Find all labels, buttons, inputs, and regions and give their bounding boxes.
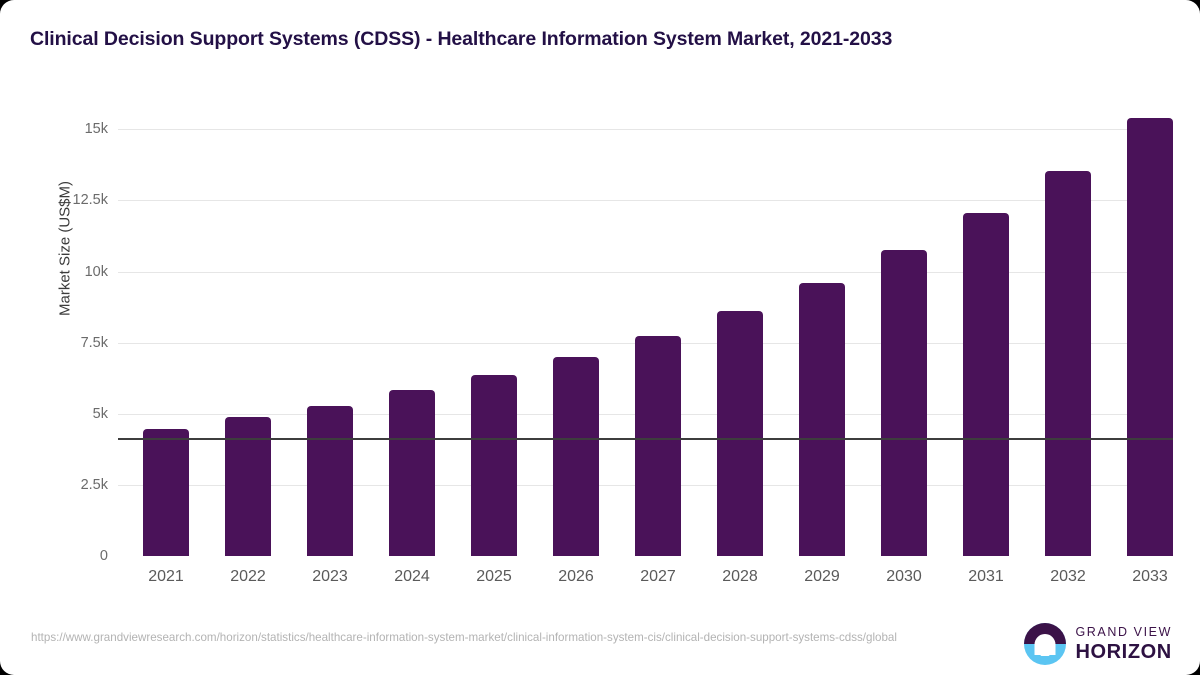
gridline [118, 129, 1173, 130]
bar-2026[interactable] [553, 357, 599, 556]
bar-2033[interactable] [1127, 118, 1173, 556]
x-tick-label: 2032 [1023, 568, 1113, 586]
horizon-sun-icon [1024, 623, 1066, 665]
y-tick-label: 7.5k [18, 335, 108, 351]
y-tick-label: 2.5k [18, 477, 108, 493]
x-axis-ticks: 2021202220232024202520262027202820292030… [118, 562, 1173, 592]
source-url[interactable]: https://www.grandviewresearch.com/horizo… [31, 630, 921, 646]
x-tick-label: 2027 [613, 568, 703, 586]
x-tick-label: 2026 [531, 568, 621, 586]
page-title: Clinical Decision Support Systems (CDSS)… [30, 28, 1170, 51]
x-tick-label: 2023 [285, 568, 375, 586]
x-tick-label: 2029 [777, 568, 867, 586]
bar-2024[interactable] [389, 390, 435, 556]
x-tick-label: 2031 [941, 568, 1031, 586]
x-tick-label: 2021 [121, 568, 211, 586]
y-tick-label: 15k [18, 121, 108, 137]
bar-2021[interactable] [143, 429, 189, 556]
x-tick-label: 2024 [367, 568, 457, 586]
x-tick-label: 2030 [859, 568, 949, 586]
bar-2027[interactable] [635, 336, 681, 556]
x-tick-label: 2028 [695, 568, 785, 586]
bar-2028[interactable] [717, 311, 763, 556]
x-axis-line [118, 438, 1173, 440]
bar-2023[interactable] [307, 406, 353, 556]
y-axis-ticks: 02.5k5k7.5k10k12.5k15k [10, 118, 108, 556]
x-tick-label: 2022 [203, 568, 293, 586]
y-tick-label: 12.5k [18, 192, 108, 208]
x-tick-label: 2033 [1105, 568, 1195, 586]
gridline [118, 200, 1173, 201]
bar-2032[interactable] [1045, 171, 1091, 556]
plot-area [118, 118, 1173, 556]
bar-2025[interactable] [471, 375, 517, 556]
chart-page: Clinical Decision Support Systems (CDSS)… [0, 0, 1200, 675]
logo-line-2: HORIZON [1075, 642, 1172, 662]
x-tick-label: 2025 [449, 568, 539, 586]
logo-line-1: GRAND VIEW [1075, 626, 1172, 639]
y-tick-label: 5k [18, 406, 108, 422]
gridline [118, 272, 1173, 273]
y-tick-label: 0 [18, 548, 108, 564]
bar-2029[interactable] [799, 283, 845, 556]
y-tick-label: 10k [18, 264, 108, 280]
bar-2030[interactable] [881, 250, 927, 556]
brand-logo: GRAND VIEW HORIZON [1024, 622, 1172, 666]
bar-2031[interactable] [963, 213, 1009, 556]
